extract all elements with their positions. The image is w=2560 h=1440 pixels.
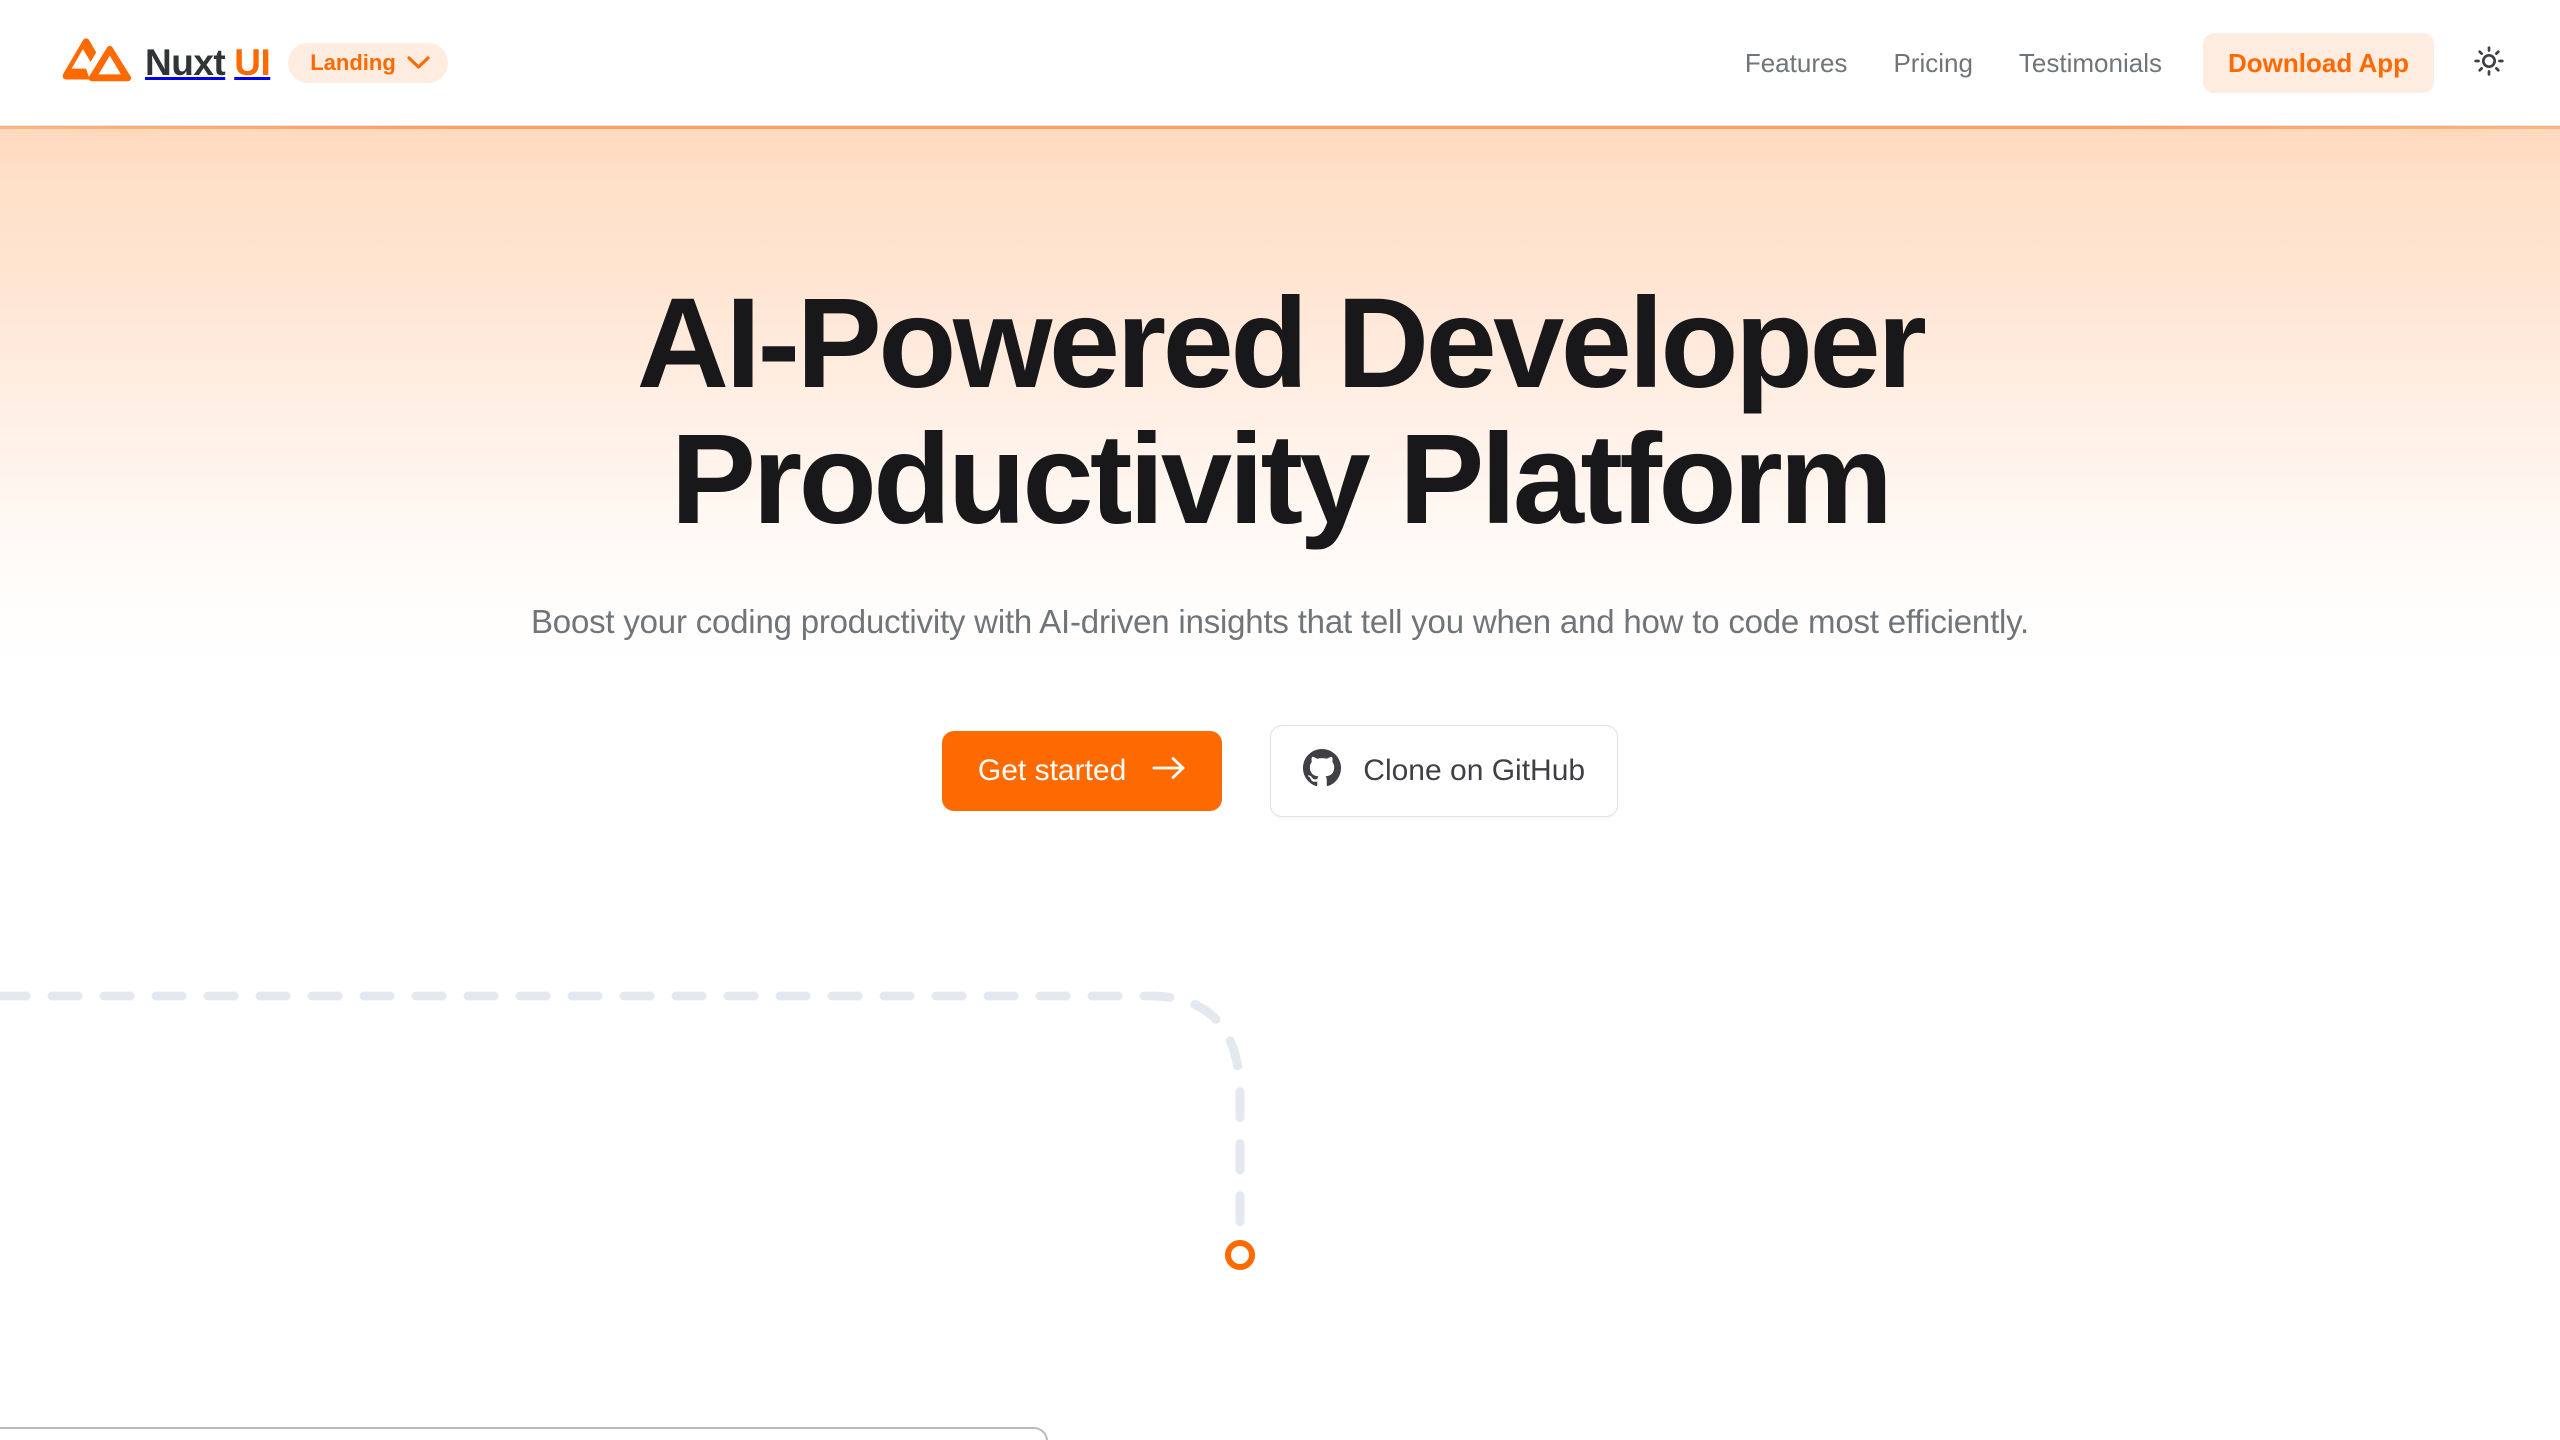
brand-name-accent: UI	[234, 44, 270, 81]
sun-icon	[2472, 44, 2506, 81]
chevron-down-icon	[407, 52, 430, 74]
decorative-connector-path	[0, 960, 2560, 1360]
github-icon	[1303, 749, 1341, 793]
below-fold-card-edge	[0, 1427, 1048, 1440]
clone-on-github-label: Clone on GitHub	[1363, 756, 1585, 786]
get-started-label: Get started	[978, 756, 1126, 786]
hero-section: AI-Powered Developer Productivity Platfo…	[0, 126, 2560, 817]
brand-home-link[interactable]: Nuxt UI	[62, 35, 270, 90]
nav-link-testimonials[interactable]: Testimonials	[1996, 40, 2185, 86]
brand-name-primary: Nuxt	[145, 44, 225, 81]
landing-dropdown-label: Landing	[310, 52, 396, 74]
page-title: AI-Powered Developer Productivity Platfo…	[420, 276, 2140, 547]
circle-node-icon	[1228, 1243, 1252, 1267]
download-app-button[interactable]: Download App	[2203, 33, 2434, 93]
landing-dropdown-button[interactable]: Landing	[288, 43, 448, 83]
clone-on-github-button[interactable]: Clone on GitHub	[1270, 725, 1618, 817]
nav-link-pricing[interactable]: Pricing	[1870, 40, 1995, 86]
get-started-button[interactable]: Get started	[942, 731, 1222, 811]
site-header: Nuxt UI Landing Features Pricing Testimo…	[0, 0, 2560, 126]
theme-toggle-button[interactable]	[2460, 34, 2518, 92]
nav-links-group: Features Pricing Testimonials	[1722, 40, 2185, 86]
hero-cta-group: Get started Clone on GitHub	[0, 725, 2560, 817]
dashed-elbow-line	[0, 996, 1240, 1250]
primary-navigation: Features Pricing Testimonials Download A…	[1722, 33, 2518, 93]
nuxt-mountain-logo-icon	[62, 35, 132, 90]
brand-area: Nuxt UI Landing	[62, 35, 448, 90]
hero-title-line-2: Productivity Platform	[671, 408, 1890, 551]
nav-link-features[interactable]: Features	[1722, 40, 1871, 86]
hero-subtitle: Boost your coding productivity with AI-d…	[0, 597, 2560, 647]
brand-wordmark: Nuxt UI	[145, 44, 270, 81]
hero-title-line-1: AI-Powered Developer	[637, 272, 1924, 415]
header-inner: Nuxt UI Landing Features Pricing Testimo…	[0, 0, 2560, 125]
arrow-right-icon	[1152, 755, 1186, 787]
